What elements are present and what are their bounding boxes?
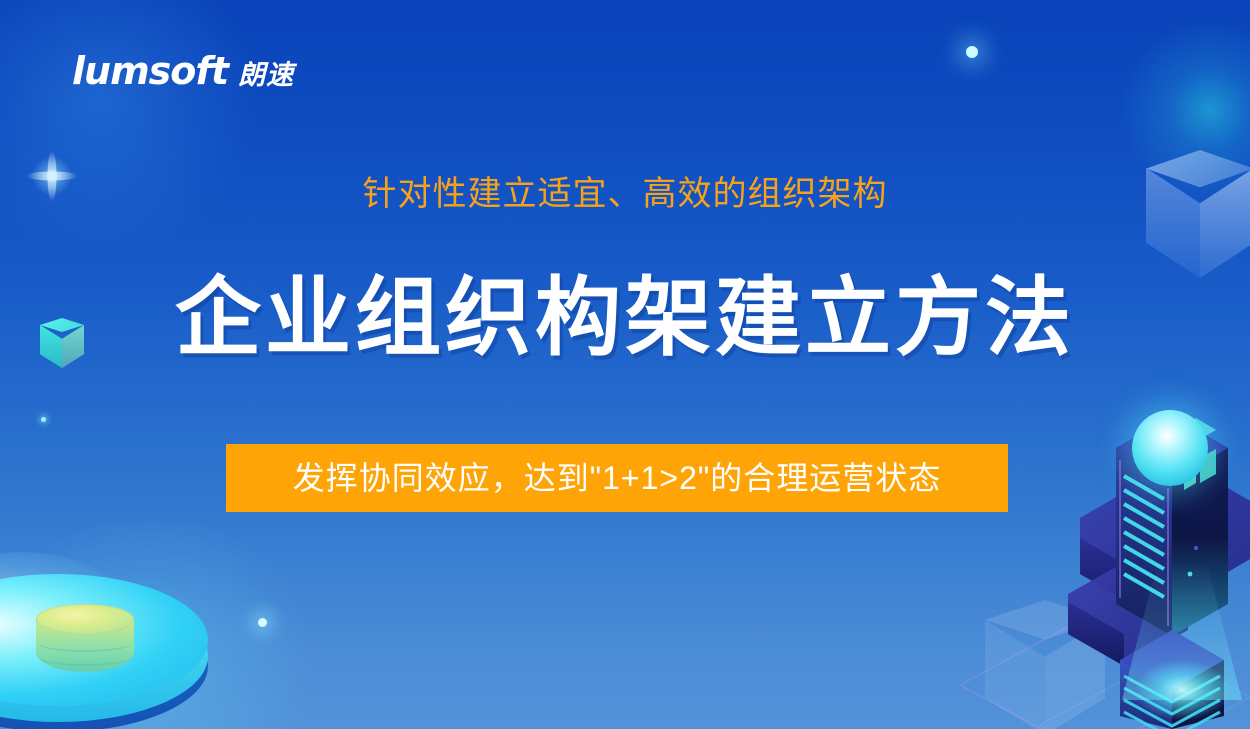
glow-dot-bottom [258, 618, 267, 627]
glow-sphere-icon [1132, 410, 1208, 486]
brand-logo-cn: 朗速 [238, 62, 294, 89]
banner-canvas: lumsoft 朗速 针对性建立适宜、高效的组织架构 企业组织构架建立方法 发挥… [0, 0, 1250, 729]
glow-dot-left [41, 417, 46, 422]
hero-title: 企业组织构架建立方法 [0, 272, 1250, 365]
hero-subtitle: 针对性建立适宜、高效的组织架构 [0, 176, 1250, 213]
iso-cube-icon [1146, 150, 1250, 278]
brand-logo-en: lumsoft [72, 52, 228, 90]
brand-logo[interactable]: lumsoft 朗速 [72, 52, 294, 90]
glow-dot-top-right [966, 46, 978, 58]
database-cylinder-icon [36, 604, 134, 682]
light-beam-core [1135, 660, 1229, 720]
hero-banner: 发挥协同效应，达到"1+1>2"的合理运营状态 [226, 444, 1008, 512]
database-disc-illustration [0, 552, 238, 729]
background-glow-top-left [0, 0, 260, 260]
hero-banner-text: 发挥协同效应，达到"1+1>2"的合理运营状态 [293, 462, 942, 494]
